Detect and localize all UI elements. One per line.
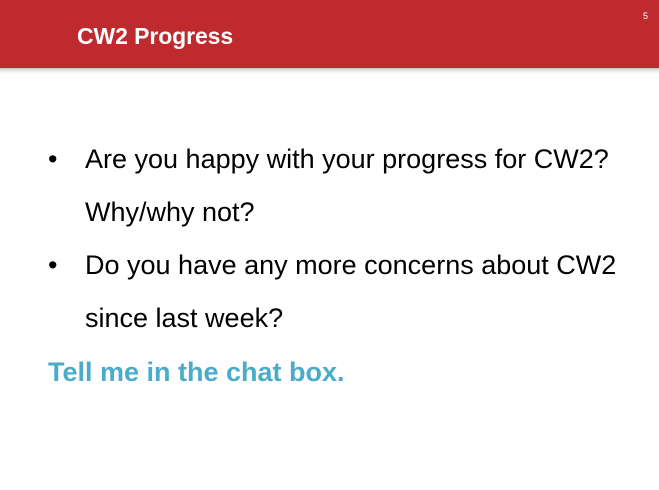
list-item-text: Are you happy with your progress for CW2… — [85, 133, 644, 239]
page-title: CW2 Progress — [77, 23, 233, 49]
list-item: • Are you happy with your progress for C… — [44, 133, 644, 239]
list-item-text: Do you have any more concerns about CW2 … — [85, 239, 644, 345]
bullet-dot-icon: • — [48, 239, 68, 292]
header-shadow — [0, 68, 659, 75]
bullet-list: • Are you happy with your progress for C… — [44, 133, 644, 345]
bullet-dot-icon: • — [48, 133, 68, 186]
list-item: • Do you have any more concerns about CW… — [44, 239, 644, 345]
callout-text: Tell me in the chat box. — [48, 353, 345, 391]
slide-number: 5 — [643, 11, 648, 22]
slide: CW2 Progress 5 • Are you happy with your… — [0, 0, 659, 490]
